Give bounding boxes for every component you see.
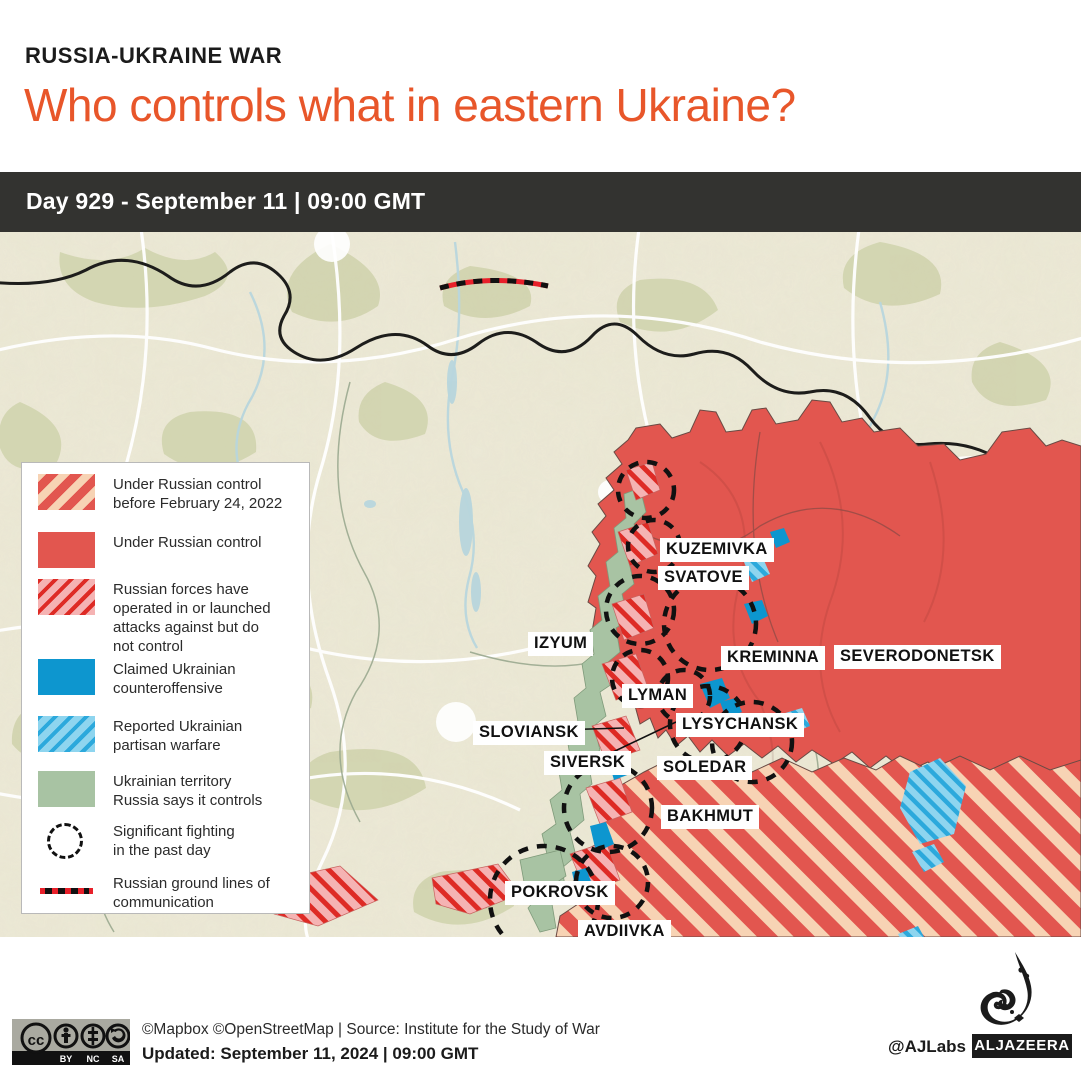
legend-item-attacked-not-controlled: Russian forces have operated in or launc… xyxy=(22,579,311,656)
svg-text:cc: cc xyxy=(28,1032,45,1049)
aljazeera-logo-icon xyxy=(975,950,1049,1028)
day-bar-label: Day 929 - September 11 | 09:00 GMT xyxy=(26,188,425,215)
city-label-pokrovsk: POKROVSK xyxy=(505,881,615,905)
legend-label: Under Russian control before February 24… xyxy=(113,474,282,513)
city-label-bakhmut: BAKHMUT xyxy=(661,805,759,829)
legend-label: Under Russian control xyxy=(113,532,261,552)
legend-item-pre-2022: Under Russian control before February 24… xyxy=(22,474,311,513)
legend-item-significant-fighting: Significant fighting in the past day xyxy=(22,821,311,861)
legend-item-russian-control: Under Russian control xyxy=(22,532,311,568)
legend-label: Russian forces have operated in or launc… xyxy=(113,579,271,656)
city-label-lyman: LYMAN xyxy=(622,684,693,708)
creative-commons-badge: cc BY NC SA xyxy=(12,1019,130,1065)
legend-item-gloc: Russian ground lines of communication xyxy=(22,873,311,912)
legend-label: Significant fighting in the past day xyxy=(113,821,235,860)
legend-item-partisan: Reported Ukrainian partisan warfare xyxy=(22,716,311,755)
cc-by-label: BY xyxy=(60,1054,73,1064)
city-label-soledar: SOLEDAR xyxy=(657,756,752,780)
day-bar: Day 929 - September 11 | 09:00 GMT xyxy=(0,172,1081,232)
legend-label: Russian ground lines of communication xyxy=(113,873,270,912)
legend-label: Reported Ukrainian partisan warfare xyxy=(113,716,242,755)
aljazeera-wordmark: ALJAZEERA xyxy=(972,1034,1072,1058)
cc-sa-label: SA xyxy=(112,1054,125,1064)
legend-item-counteroffensive: Claimed Ukrainian counteroffensive xyxy=(22,659,311,698)
city-label-severodonetsk: SEVERODONETSK xyxy=(834,645,1001,669)
swatch-red-hatched-peach xyxy=(38,474,95,510)
city-label-avdiivka: AVDIIVKA xyxy=(578,920,671,937)
swatch-pink-hatched-red xyxy=(38,579,95,615)
city-label-kuzemivka: KUZEMIVKA xyxy=(660,538,774,562)
city-label-izyum: IZYUM xyxy=(528,632,593,656)
swatch-solid-green xyxy=(38,771,95,807)
city-label-lysychansk: LYSYCHANSK xyxy=(676,713,804,737)
city-label-sloviansk: SLOVIANSK xyxy=(473,721,585,745)
swatch-solid-red xyxy=(38,532,95,568)
swatch-solid-blue xyxy=(38,659,95,695)
city-label-kreminna: KREMINNA xyxy=(721,646,825,670)
kicker-label: RUSSIA-UKRAINE WAR xyxy=(25,43,282,69)
city-label-siversk: SIVERSK xyxy=(544,751,631,775)
source-credit: ©Mapbox ©OpenStreetMap | Source: Institu… xyxy=(142,1021,600,1039)
aljazeera-wordmark-label: ALJAZEERA xyxy=(972,1034,1072,1058)
updated-timestamp: Updated: September 11, 2024 | 09:00 GMT xyxy=(142,1044,478,1064)
cc-nc-label: NC xyxy=(87,1054,100,1064)
russian-controlled-area xyxy=(588,400,1081,792)
dashed-circle-icon xyxy=(38,821,95,861)
ajlabs-handle: @AJLabs xyxy=(888,1037,966,1057)
page-header: RUSSIA-UKRAINE WAR Who controls what in … xyxy=(0,0,1081,172)
page-title: Who controls what in eastern Ukraine? xyxy=(24,78,796,132)
swatch-lightblue-hatched xyxy=(38,716,95,752)
map-legend: Under Russian control before February 24… xyxy=(21,462,310,914)
city-label-svatove: SVATOVE xyxy=(658,566,749,590)
legend-label: Claimed Ukrainian counteroffensive xyxy=(113,659,236,698)
legend-label: Ukrainian territory Russia says it contr… xyxy=(113,771,262,810)
pre-2022-russian-area xyxy=(556,756,1081,937)
legend-item-claimed-by-russia: Ukrainian territory Russia says it contr… xyxy=(22,771,311,810)
red-dashed-line-icon xyxy=(38,873,95,909)
